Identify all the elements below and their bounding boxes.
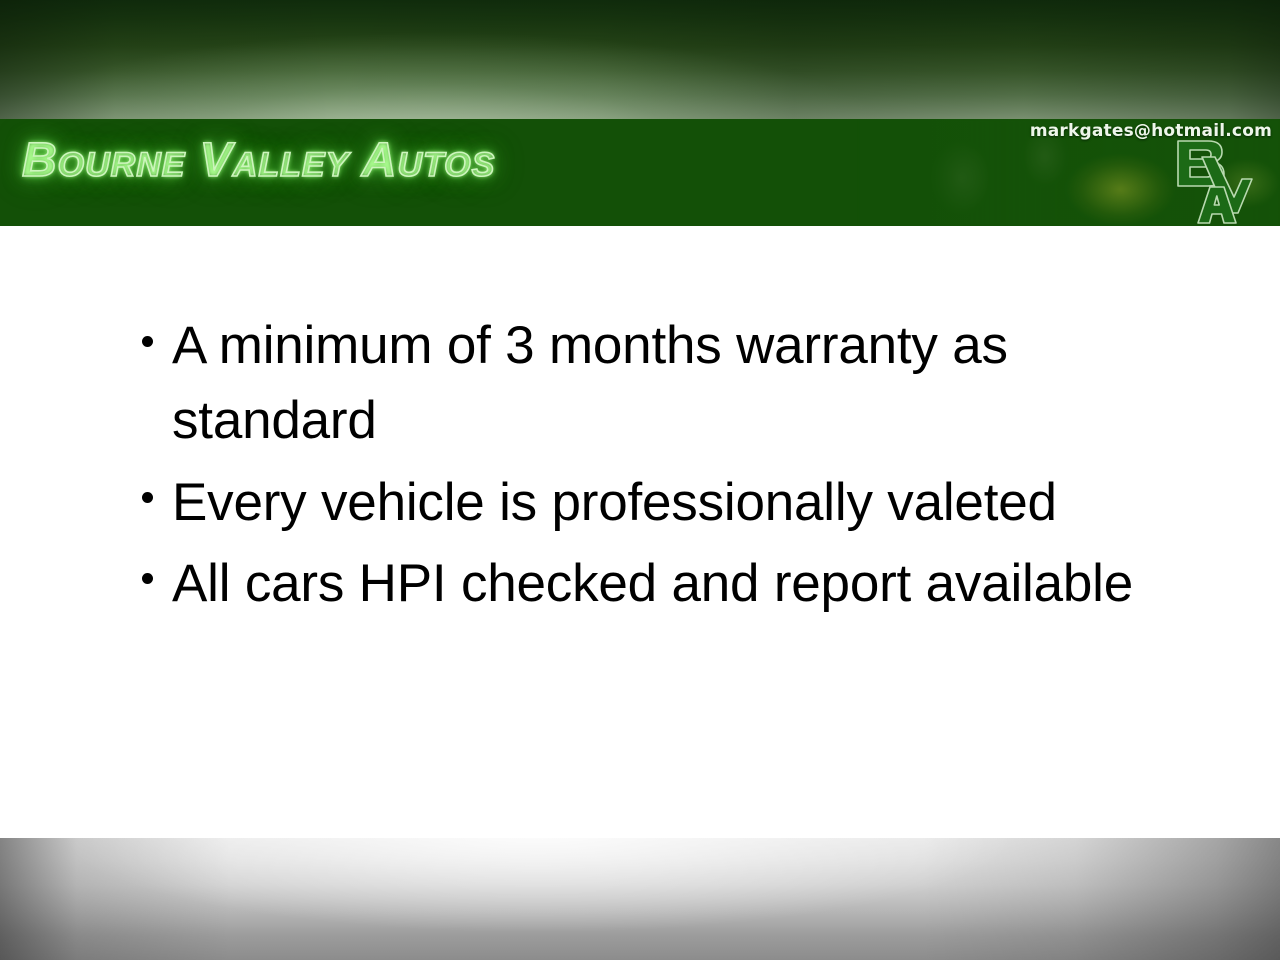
- bva-monogram-logo: [1158, 135, 1254, 226]
- bullet-dot-icon: [142, 336, 153, 347]
- list-item: Every vehicle is professionally valeted: [138, 465, 1158, 540]
- brand-title: Bourne Valley Autos: [22, 137, 495, 185]
- list-item-text: All cars HPI checked and report availabl…: [172, 554, 1133, 613]
- bullet-list: A minimum of 3 months warranty as standa…: [138, 308, 1158, 621]
- bullet-dot-icon: [142, 492, 153, 503]
- brand-header-banner: Bourne Valley Autos markgates@hotmail.co…: [0, 119, 1280, 226]
- presentation-slide: Bourne Valley Autos markgates@hotmail.co…: [0, 0, 1280, 960]
- bottom-gradient-band: [0, 838, 1280, 960]
- top-gradient-band: [0, 0, 1280, 119]
- slide-body: A minimum of 3 months warranty as standa…: [0, 226, 1280, 838]
- list-item: All cars HPI checked and report availabl…: [138, 546, 1158, 621]
- bullet-dot-icon: [142, 573, 153, 584]
- list-item-text: Every vehicle is professionally valeted: [172, 473, 1057, 532]
- list-item: A minimum of 3 months warranty as standa…: [138, 308, 1158, 459]
- list-item-text: A minimum of 3 months warranty as standa…: [172, 316, 1008, 450]
